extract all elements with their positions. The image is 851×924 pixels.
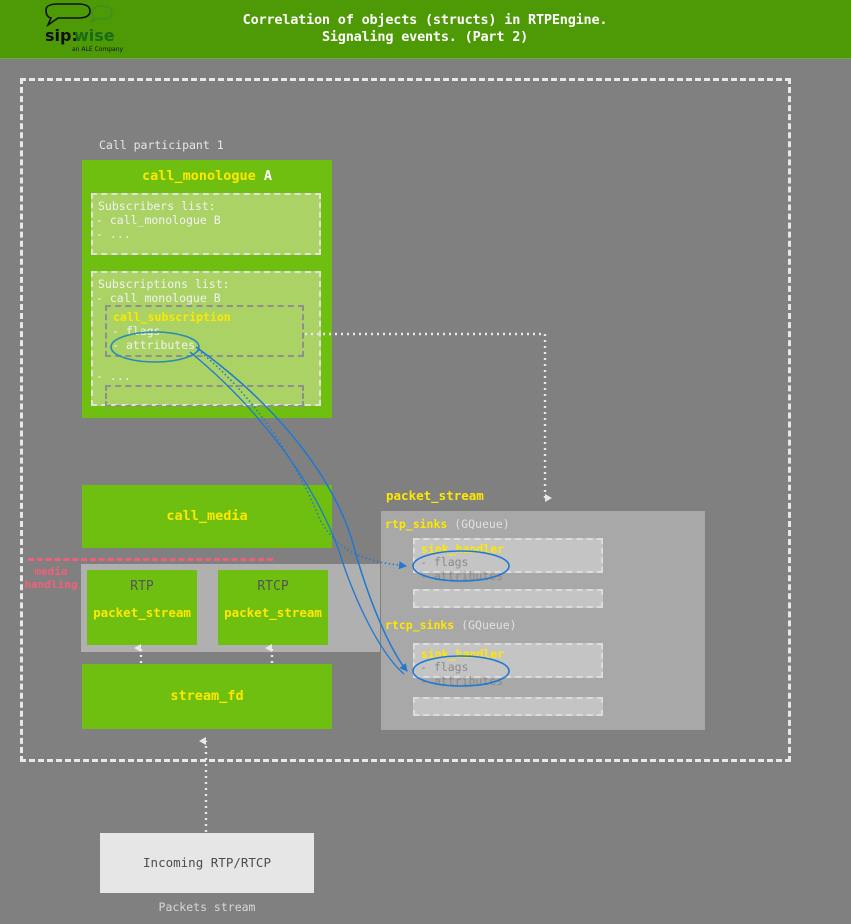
- incoming-rtp-rtcp-label: Incoming RTP/RTCP: [100, 855, 314, 870]
- rtcp-sinks-label: rtcp_sinks (GQueue): [385, 618, 517, 632]
- call-subscription-empty-slot[interactable]: [105, 385, 304, 407]
- rtp-sinks-empty-slot[interactable]: [413, 589, 603, 608]
- rtp-packet-stream-title: packet_stream: [87, 605, 197, 620]
- call-monologue-keyword: call_monologue: [142, 168, 256, 184]
- call-subscription-field-attributes: - attributes: [112, 338, 195, 353]
- rtp-kind-label: RTP: [87, 579, 197, 594]
- subscribers-item-1: - ...: [96, 227, 131, 242]
- call-subscription-field-flags: - flags: [112, 324, 160, 339]
- rtp-sink-handler-slot[interactable]: sink_handler - flags - attributes: [413, 538, 603, 573]
- subscriptions-ellipsis: - ...: [96, 369, 131, 384]
- rtcp-sink-handler-field-flags: - flags: [420, 660, 468, 675]
- page-header: sip: wise an ALE Company Correlation of …: [0, 0, 851, 59]
- call-participant-label: Call participant 1: [99, 138, 224, 152]
- subscribers-heading: Subscribers list:: [98, 199, 216, 214]
- subscribers-list-panel: Subscribers list: - call_monologue B - .…: [91, 193, 321, 255]
- rtp-sink-handler-field-attributes: - attributes: [420, 569, 503, 584]
- rtcp-sinks-type: (GQueue): [461, 618, 516, 632]
- rtp-sinks-type: (GQueue): [454, 517, 509, 531]
- call-subscription-box[interactable]: call_subscription - flags - attributes: [105, 305, 304, 357]
- svg-text:an ALE Company: an ALE Company: [72, 46, 124, 53]
- stream-fd-title: stream_fd: [82, 688, 332, 704]
- media-handling-divider: [28, 558, 273, 561]
- rtp-sinks-label: rtp_sinks (GQueue): [385, 517, 510, 531]
- media-handling-label: media handling: [19, 565, 83, 591]
- rtcp-sink-handler-field-attributes: - attributes: [420, 674, 503, 689]
- rtcp-sink-handler-slot[interactable]: sink_handler - flags - attributes: [413, 643, 603, 678]
- subscribers-item-0: - call_monologue B: [96, 213, 221, 228]
- call-monologue-suffix: A: [256, 168, 272, 184]
- subscriptions-item-0: - call monologue B: [96, 291, 221, 306]
- call-monologue-title: call_monologue A: [82, 168, 332, 184]
- rtcp-sinks-empty-slot[interactable]: [413, 697, 603, 716]
- packet-stream-panel[interactable]: rtp_sinks (GQueue) sink_handler - flags …: [381, 511, 705, 730]
- rtcp-kind-label: RTCP: [218, 579, 328, 594]
- rtp-sinks-name: rtp_sinks: [385, 517, 447, 531]
- incoming-rtp-rtcp-box[interactable]: Incoming RTP/RTCP: [100, 833, 314, 893]
- call-media-title: call_media: [82, 508, 332, 524]
- stream-fd-box[interactable]: stream_fd: [82, 664, 332, 729]
- svg-text:wise: wise: [74, 26, 115, 45]
- call-monologue-box[interactable]: call_monologue A Subscribers list: - cal…: [82, 160, 332, 418]
- page-title: Correlation of objects (structs) in RTPE…: [160, 12, 690, 46]
- rtcp-sinks-name: rtcp_sinks: [385, 618, 454, 632]
- svg-text:sip:: sip:: [45, 26, 78, 45]
- rtp-sink-handler-keyword: sink_handler: [421, 542, 504, 556]
- diagram-page: sip: wise an ALE Company Correlation of …: [0, 0, 851, 924]
- rtcp-packet-stream-title: packet_stream: [218, 605, 328, 620]
- rtp-sink-handler-field-flags: - flags: [420, 555, 468, 570]
- packets-stream-caption: Packets stream: [100, 900, 314, 914]
- call-media-box[interactable]: call_media: [82, 485, 332, 548]
- subscriptions-heading: Subscriptions list:: [98, 277, 230, 292]
- rtp-packet-stream-box[interactable]: RTP packet_stream: [87, 570, 197, 645]
- sipwise-logo: sip: wise an ALE Company: [32, 2, 127, 57]
- call-subscription-keyword: call_subscription: [113, 310, 231, 324]
- rtcp-sink-handler-keyword: sink_handler: [421, 647, 504, 661]
- packet-stream-panel-title: packet_stream: [386, 488, 484, 503]
- rtcp-packet-stream-box[interactable]: RTCP packet_stream: [218, 570, 328, 645]
- subscriptions-list-panel: Subscriptions list: - call monologue B c…: [91, 271, 321, 406]
